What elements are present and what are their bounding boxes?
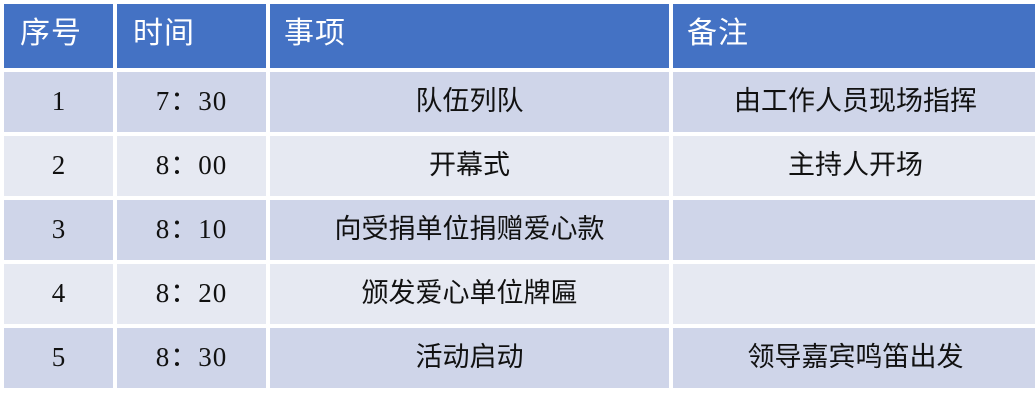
- table-row: 2 8：00 开幕式 主持人开场: [4, 136, 1035, 196]
- column-header-item: 事项: [270, 4, 669, 68]
- cell-time: 8：20: [117, 264, 266, 324]
- table-row: 1 7：30 队伍列队 由工作人员现场指挥: [4, 72, 1035, 132]
- column-header-note: 备注: [673, 4, 1035, 68]
- cell-note: 主持人开场: [673, 136, 1035, 196]
- table-header-row: 序号 时间 事项 备注: [4, 4, 1035, 68]
- table-row: 4 8：20 颁发爱心单位牌匾: [4, 264, 1035, 324]
- table-body: 1 7：30 队伍列队 由工作人员现场指挥 2 8：00 开幕式 主持人开场 3…: [4, 72, 1035, 388]
- cell-note: 领导嘉宾鸣笛出发: [673, 328, 1035, 388]
- cell-time: 8：30: [117, 328, 266, 388]
- event-schedule-table: 序号 时间 事项 备注 1 7：30 队伍列队 由工作人员现场指挥 2 8：00…: [0, 0, 1035, 392]
- cell-sequence: 2: [4, 136, 113, 196]
- cell-time: 8：10: [117, 200, 266, 260]
- cell-note: 由工作人员现场指挥: [673, 72, 1035, 132]
- cell-time: 7：30: [117, 72, 266, 132]
- cell-sequence: 3: [4, 200, 113, 260]
- cell-sequence: 4: [4, 264, 113, 324]
- column-header-time: 时间: [117, 4, 266, 68]
- cell-time: 8：00: [117, 136, 266, 196]
- cell-note: [673, 200, 1035, 260]
- cell-item: 队伍列队: [270, 72, 669, 132]
- column-header-sequence: 序号: [4, 4, 113, 68]
- cell-sequence: 1: [4, 72, 113, 132]
- cell-item: 活动启动: [270, 328, 669, 388]
- table-row: 5 8：30 活动启动 领导嘉宾鸣笛出发: [4, 328, 1035, 388]
- cell-sequence: 5: [4, 328, 113, 388]
- table-header: 序号 时间 事项 备注: [4, 4, 1035, 68]
- cell-item: 颁发爱心单位牌匾: [270, 264, 669, 324]
- cell-item: 开幕式: [270, 136, 669, 196]
- cell-note: [673, 264, 1035, 324]
- table-row: 3 8：10 向受捐单位捐赠爱心款: [4, 200, 1035, 260]
- cell-item: 向受捐单位捐赠爱心款: [270, 200, 669, 260]
